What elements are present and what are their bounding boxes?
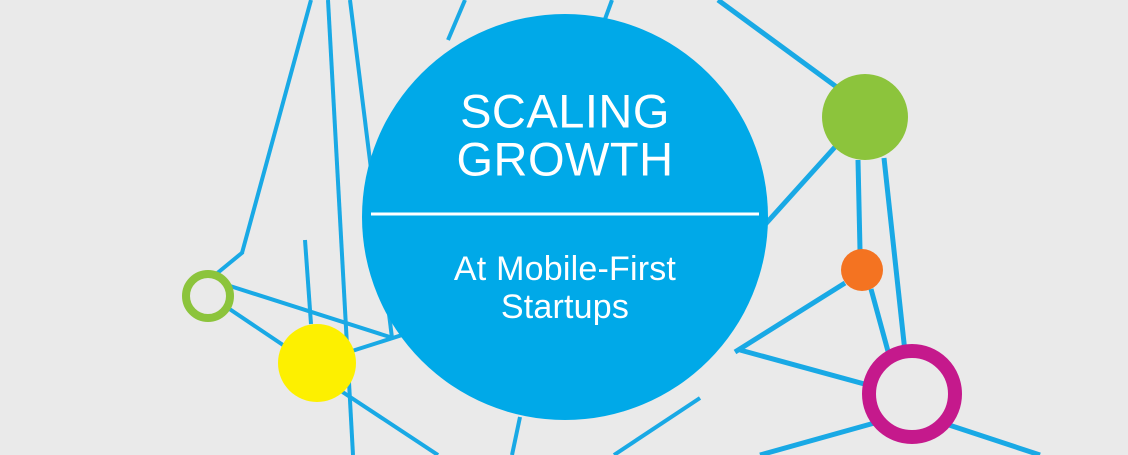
yellow-node [278, 324, 356, 402]
network-diagram: SCALING GROWTH At Mobile-First Startups [0, 0, 1128, 455]
edge-green-orange [858, 160, 860, 250]
orange-node [841, 249, 883, 291]
hub-subtitle-line-2: Startups [501, 288, 629, 326]
green-node [822, 74, 908, 160]
hub-circle [362, 14, 768, 420]
infographic-canvas: SCALING GROWTH At Mobile-First Startups [0, 0, 1128, 455]
hub-title-line-1: SCALING [460, 84, 670, 137]
hub-subtitle-line-1: At Mobile-First [454, 250, 676, 288]
hub-title-line-2: GROWTH [456, 132, 673, 185]
